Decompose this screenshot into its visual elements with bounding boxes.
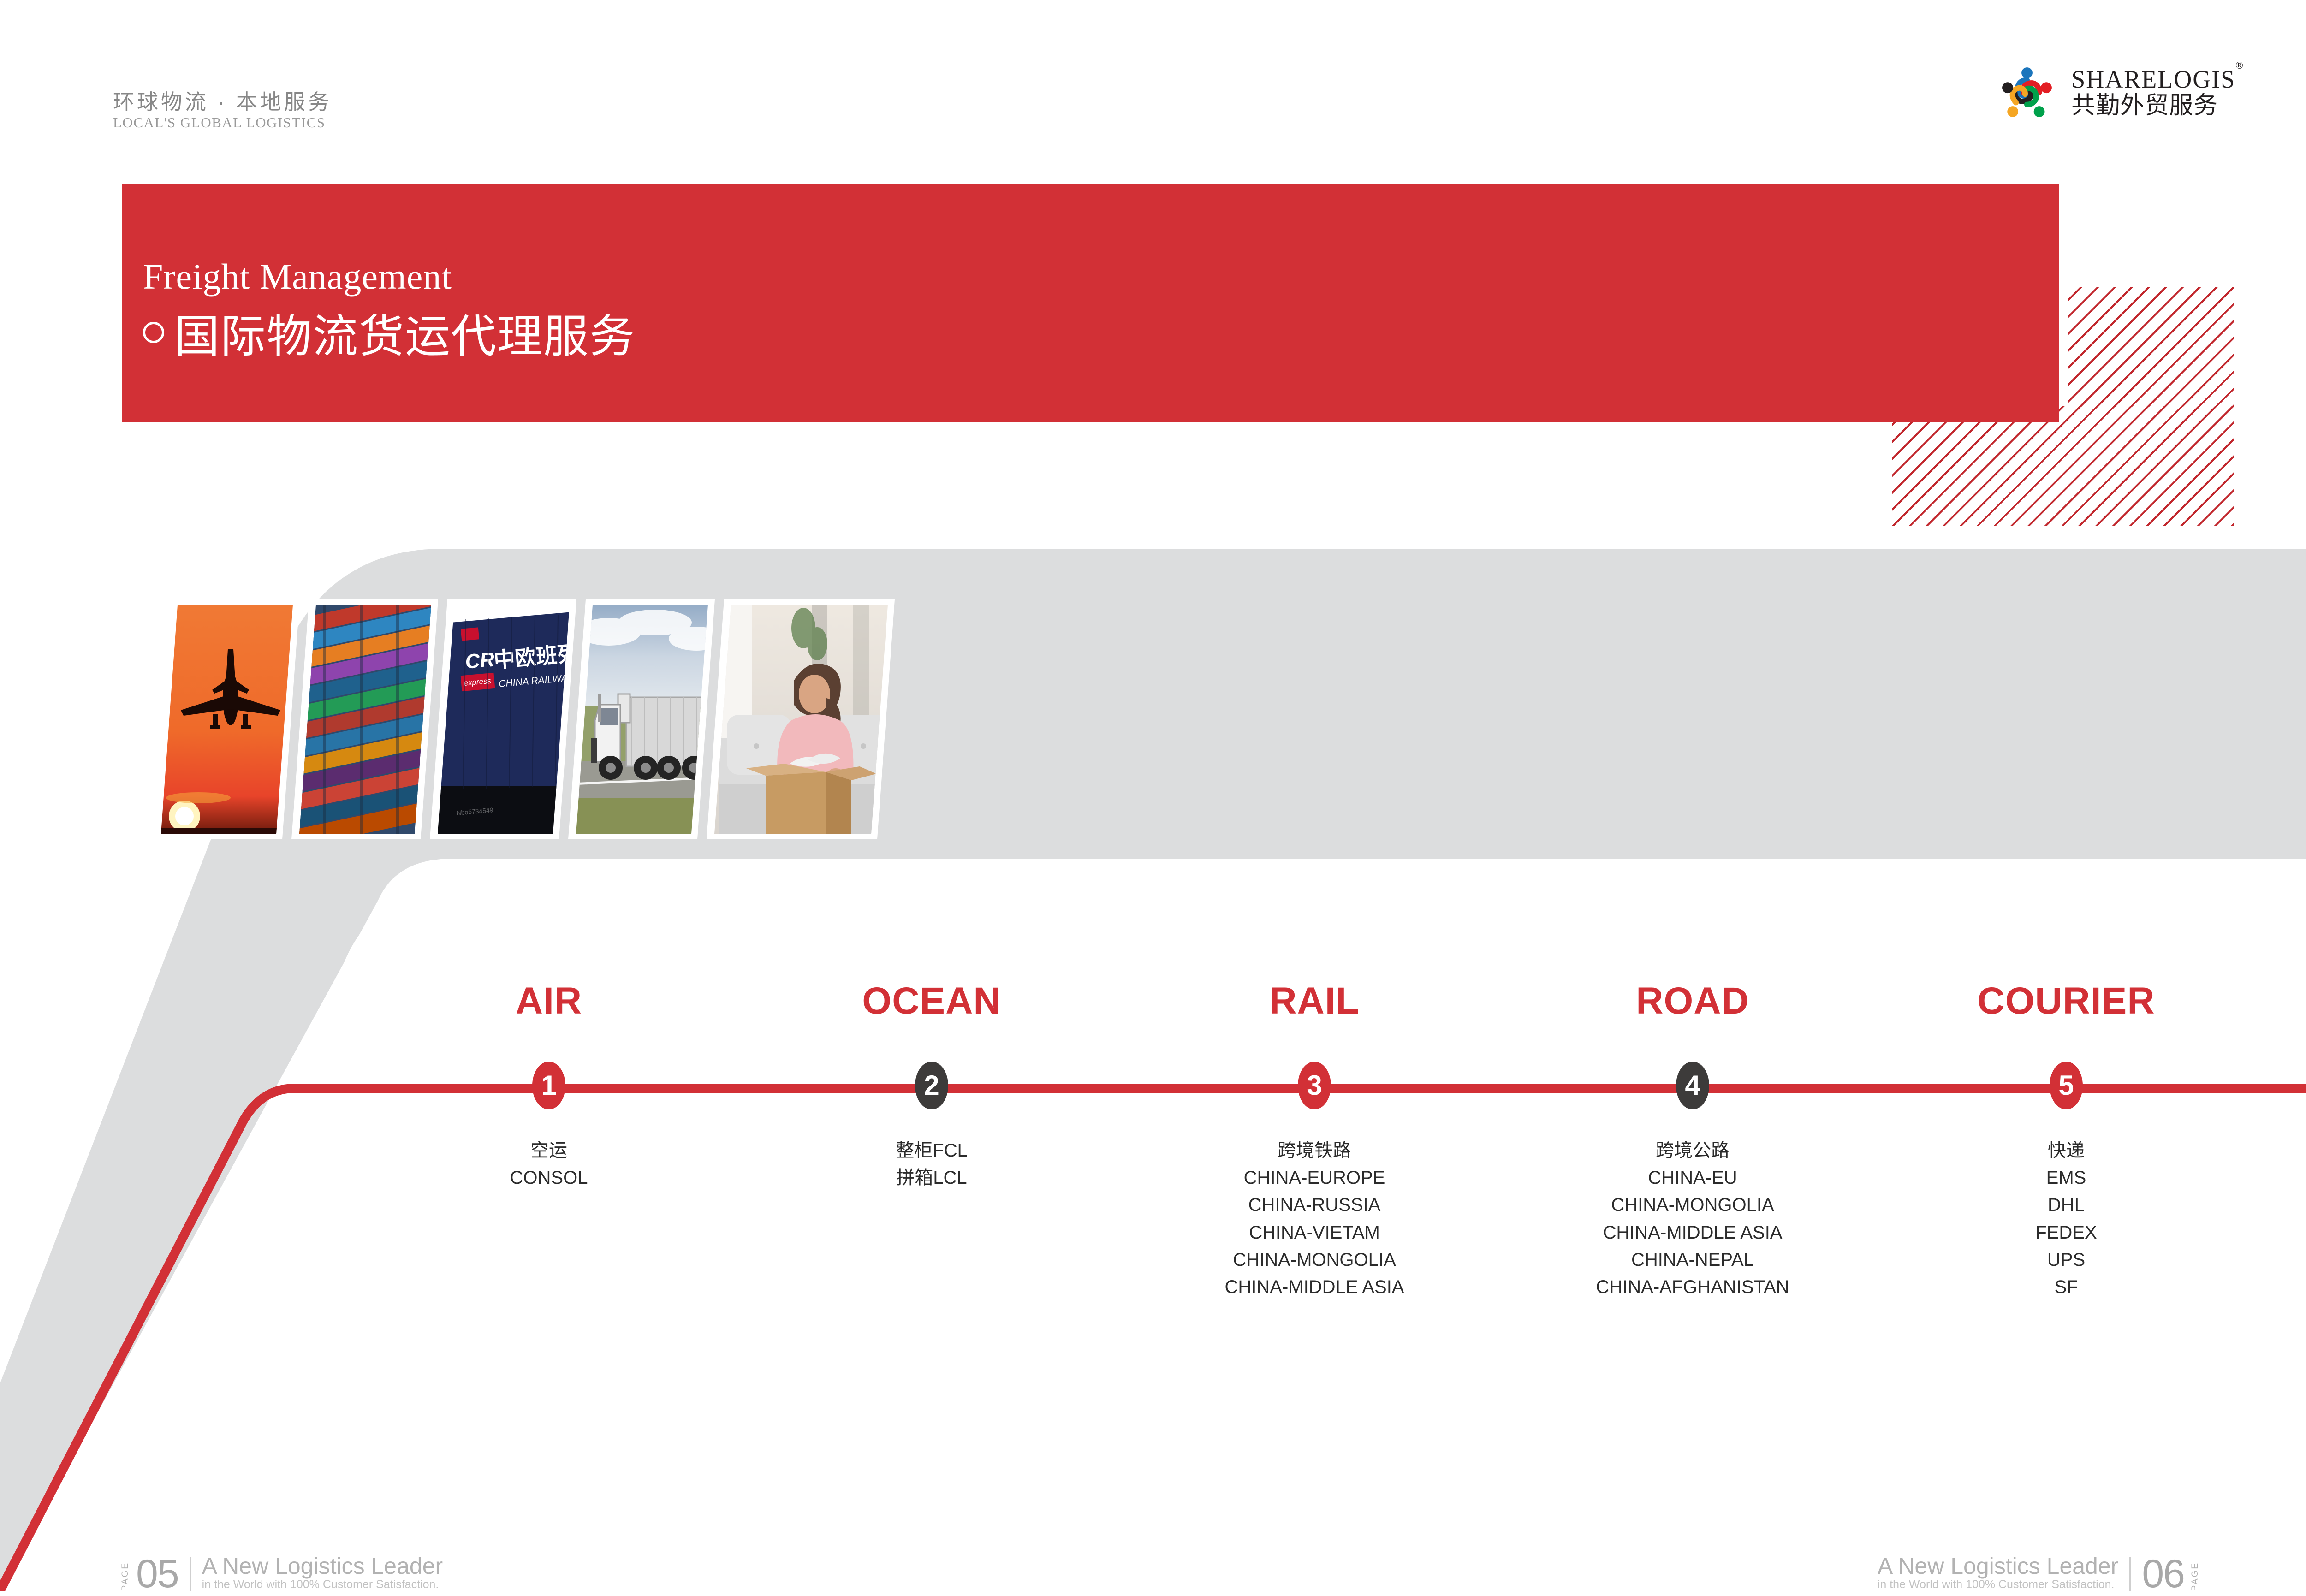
timeline-marker-3[interactable]: 3	[1298, 1062, 1331, 1109]
marker-number: 5	[2058, 1072, 2074, 1099]
list-item: CHINA-MONGOLIA	[1596, 1192, 1789, 1219]
transport-modes: AIR 1 空运 CONSOL OCEAN 2 整柜FCL 拼箱LCL RAIL…	[0, 982, 2306, 1397]
timeline-marker-1[interactable]: 1	[532, 1062, 565, 1109]
marker-number: 3	[1307, 1072, 1322, 1099]
list-item: CHINA-NEPAL	[1596, 1246, 1789, 1274]
list-item: CHINA-MONGOLIA	[1218, 1246, 1411, 1274]
list-item: FEDEX	[1969, 1219, 2163, 1246]
mode-items-air: 空运 CONSOL	[452, 1137, 646, 1192]
mode-column-rail[interactable]: RAIL 3 跨境铁路 CHINA-EUROPE CHINA-RUSSIA CH…	[1218, 982, 1411, 1301]
list-item: 跨境铁路	[1218, 1137, 1411, 1164]
list-item: CHINA-AFGHANISTAN	[1596, 1274, 1789, 1301]
footer-right: A New Logistics Leader in the World with…	[1878, 1446, 2199, 1591]
mode-items-road: 跨境公路 CHINA-EU CHINA-MONGOLIA CHINA-MIDDL…	[1596, 1137, 1789, 1301]
page-number-left: 05	[136, 1557, 178, 1591]
list-item: CHINA-EU	[1596, 1164, 1789, 1192]
mode-title-rail: RAIL	[1218, 982, 1411, 1020]
mode-column-courier[interactable]: COURIER 5 快递 EMS DHL FEDEX UPS SF	[1969, 982, 2163, 1301]
footer-line1: A New Logistics Leader	[1878, 1554, 2119, 1578]
mode-title-courier: COURIER	[1969, 982, 2163, 1020]
mode-items-ocean: 整柜FCL 拼箱LCL	[835, 1137, 1028, 1192]
list-item: CHINA-MIDDLE ASIA	[1596, 1219, 1789, 1246]
footer-line2: in the World with 100% Customer Satisfac…	[1878, 1578, 2119, 1591]
footer-line2: in the World with 100% Customer Satisfac…	[202, 1578, 443, 1591]
mode-items-rail: 跨境铁路 CHINA-EUROPE CHINA-RUSSIA CHINA-VIE…	[1218, 1137, 1411, 1301]
page-word-right: PAGE	[2191, 1559, 2199, 1591]
list-item: 快递	[1969, 1137, 2163, 1164]
footer-divider-right	[2129, 1557, 2131, 1591]
list-item: UPS	[1969, 1246, 2163, 1274]
footer-line1: A New Logistics Leader	[202, 1554, 443, 1578]
footer-tagline-left: A New Logistics Leader in the World with…	[202, 1554, 443, 1591]
list-item: SF	[1969, 1274, 2163, 1301]
footer-left: PAGE 05 A New Logistics Leader in the Wo…	[121, 1446, 443, 1591]
list-item: 整柜FCL	[835, 1137, 1028, 1164]
mode-title-air: AIR	[452, 982, 646, 1020]
page-word-left: PAGE	[121, 1559, 130, 1591]
mode-title-ocean: OCEAN	[835, 982, 1028, 1020]
list-item: 跨境公路	[1596, 1137, 1789, 1164]
marker-number: 2	[924, 1072, 939, 1099]
mode-column-air[interactable]: AIR 1 空运 CONSOL	[452, 982, 646, 1192]
list-item: CHINA-RUSSIA	[1218, 1192, 1411, 1219]
list-item: CONSOL	[452, 1164, 646, 1192]
footer-tagline-right: A New Logistics Leader in the World with…	[1878, 1554, 2119, 1591]
mode-items-courier: 快递 EMS DHL FEDEX UPS SF	[1969, 1137, 2163, 1301]
list-item: 空运	[452, 1137, 646, 1164]
list-item: DHL	[1969, 1192, 2163, 1219]
list-item: 拼箱LCL	[835, 1164, 1028, 1192]
timeline-marker-4[interactable]: 4	[1676, 1062, 1709, 1109]
list-item: CHINA-MIDDLE ASIA	[1218, 1274, 1411, 1301]
page-number-right: 06	[2142, 1557, 2184, 1591]
mode-title-road: ROAD	[1596, 982, 1789, 1020]
list-item: CHINA-EUROPE	[1218, 1164, 1411, 1192]
mode-column-ocean[interactable]: OCEAN 2 整柜FCL 拼箱LCL	[835, 982, 1028, 1192]
marker-number: 1	[541, 1072, 556, 1099]
timeline-marker-5[interactable]: 5	[2050, 1062, 2083, 1109]
marker-number: 4	[1685, 1072, 1700, 1099]
mode-column-road[interactable]: ROAD 4 跨境公路 CHINA-EU CHINA-MONGOLIA CHIN…	[1596, 982, 1789, 1301]
footer-divider-left	[190, 1557, 191, 1591]
timeline-marker-2[interactable]: 2	[915, 1062, 948, 1109]
list-item: CHINA-VIETAM	[1218, 1219, 1411, 1246]
list-item: EMS	[1969, 1164, 2163, 1192]
